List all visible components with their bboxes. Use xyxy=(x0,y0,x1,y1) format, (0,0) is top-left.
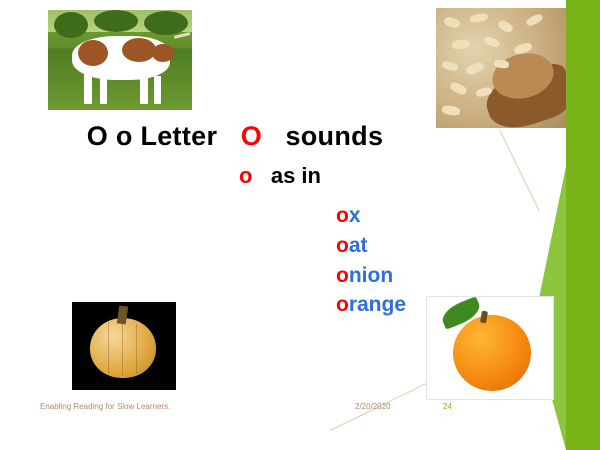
decoration-bar-dark-green xyxy=(566,0,600,450)
subtitle-letter: o xyxy=(239,163,252,188)
word-initial-letter: o xyxy=(336,204,349,227)
list-item: ox xyxy=(336,201,406,231)
cow-photo-leg xyxy=(84,74,92,104)
word-remainder: x xyxy=(349,204,361,227)
list-item: orange xyxy=(336,290,406,320)
cow-photo-tree xyxy=(54,12,88,38)
cow-photo-patch xyxy=(122,38,156,62)
slide-title: O o Letter O sounds xyxy=(0,121,470,152)
word-remainder: range xyxy=(349,293,406,316)
word-initial-letter: o xyxy=(336,234,349,257)
slide-canvas: O o Letter O sounds o as in ox oat onion… xyxy=(0,0,600,450)
cow-photo-leg xyxy=(100,76,107,104)
subtitle-text: as in xyxy=(271,163,321,188)
cow-photo-leg xyxy=(154,76,161,104)
footer-credit: Enabling Reading for Slow Learners. xyxy=(40,402,170,411)
onion-photo-skin-line xyxy=(136,324,137,374)
footer-date: 2/20/2020 xyxy=(355,402,391,411)
cow-photo xyxy=(48,10,192,110)
cow-photo-tree xyxy=(144,11,188,35)
title-letter-pair: O o xyxy=(87,121,133,151)
oats-photo xyxy=(436,8,566,128)
cow-photo-leg xyxy=(140,74,148,104)
title-word-sounds: sounds xyxy=(285,121,383,151)
cow-photo-tree xyxy=(94,10,138,32)
slide-subtitle: o as in xyxy=(0,163,560,189)
orange-photo xyxy=(426,296,554,400)
word-list: ox oat onion orange xyxy=(336,201,406,320)
title-highlight-letter: O xyxy=(241,121,262,151)
orange-photo-fruit xyxy=(453,315,531,391)
list-item: oat xyxy=(336,231,406,261)
word-remainder: at xyxy=(349,234,368,257)
onion-photo-bulb xyxy=(90,318,156,378)
word-initial-letter: o xyxy=(336,264,349,287)
cow-photo-patch xyxy=(78,40,108,66)
title-word-letter: Letter xyxy=(140,121,217,151)
onion-photo-skin-line xyxy=(122,320,123,376)
word-initial-letter: o xyxy=(336,293,349,316)
onion-photo xyxy=(72,302,176,390)
onion-photo-skin-line xyxy=(108,322,109,374)
footer-slide-number: 24 xyxy=(443,402,452,411)
cow-photo-patch xyxy=(152,44,174,62)
list-item: onion xyxy=(336,261,406,291)
word-remainder: nion xyxy=(349,264,393,287)
